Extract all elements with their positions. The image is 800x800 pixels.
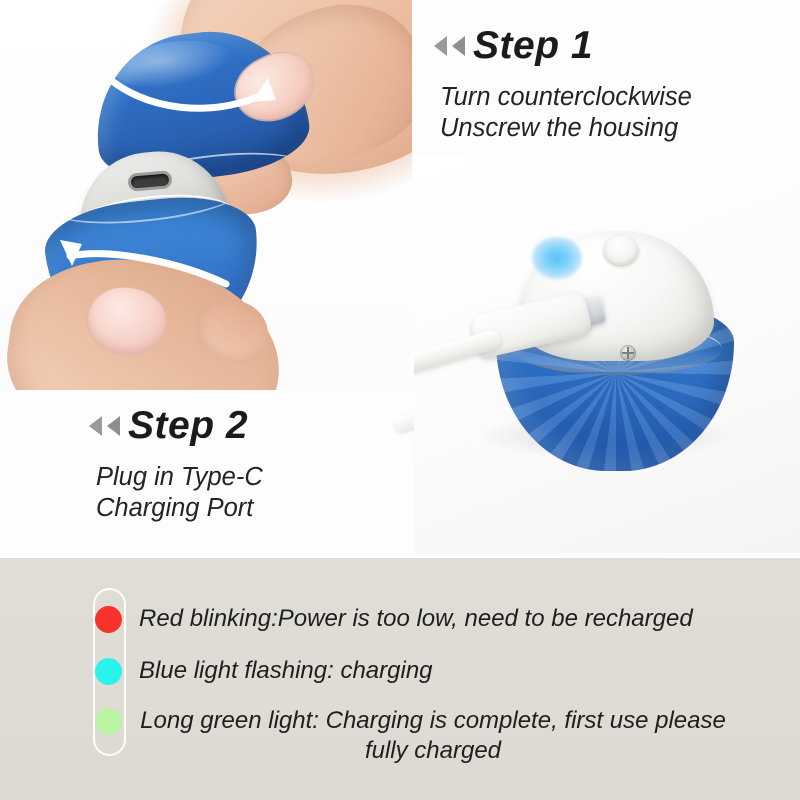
list-item-label: Long green light: Charging is complete, … <box>133 706 733 766</box>
screw-icon <box>620 345 636 361</box>
red-led-dot-icon <box>95 606 122 633</box>
instruction-infographic: Step 1 Turn counterclockwise Unscrew the… <box>0 0 800 800</box>
double-left-triangle-icon <box>107 416 120 436</box>
green-led-dot-icon <box>95 708 122 735</box>
list-item: Red blinking:Power is too low, need to b… <box>95 604 755 634</box>
led-status-legend-panel: Red blinking:Power is too low, need to b… <box>0 558 800 800</box>
double-left-triangle-icon <box>452 36 465 56</box>
blue-led-dot-icon <box>95 658 122 685</box>
step-2-title: Step 2 <box>128 406 248 445</box>
double-left-triangle-icon <box>434 36 447 56</box>
list-item-label: Red blinking:Power is too low, need to b… <box>139 604 693 634</box>
double-left-triangle-icon <box>89 416 102 436</box>
step-2-body: Plug in Type-C Charging Port <box>96 462 263 524</box>
ball-charging-photo <box>414 155 800 553</box>
step-1-title: Step 1 <box>473 26 593 65</box>
push-button-icon <box>604 235 638 265</box>
shell-gloss <box>111 35 235 93</box>
step-1-heading: Step 1 <box>434 26 593 65</box>
list-item-label: Blue light flashing: charging <box>139 656 433 686</box>
hands-unscrewing-ball-photo <box>0 0 412 390</box>
step-2-heading: Step 2 <box>89 406 248 445</box>
list-item: Long green light: Charging is complete, … <box>95 706 755 766</box>
step-1-body: Turn counterclockwise Unscrew the housin… <box>440 82 692 144</box>
led-glow-icon <box>532 237 582 279</box>
led-status-list: Red blinking:Power is too low, need to b… <box>0 558 800 800</box>
list-item: Blue light flashing: charging <box>95 656 755 686</box>
